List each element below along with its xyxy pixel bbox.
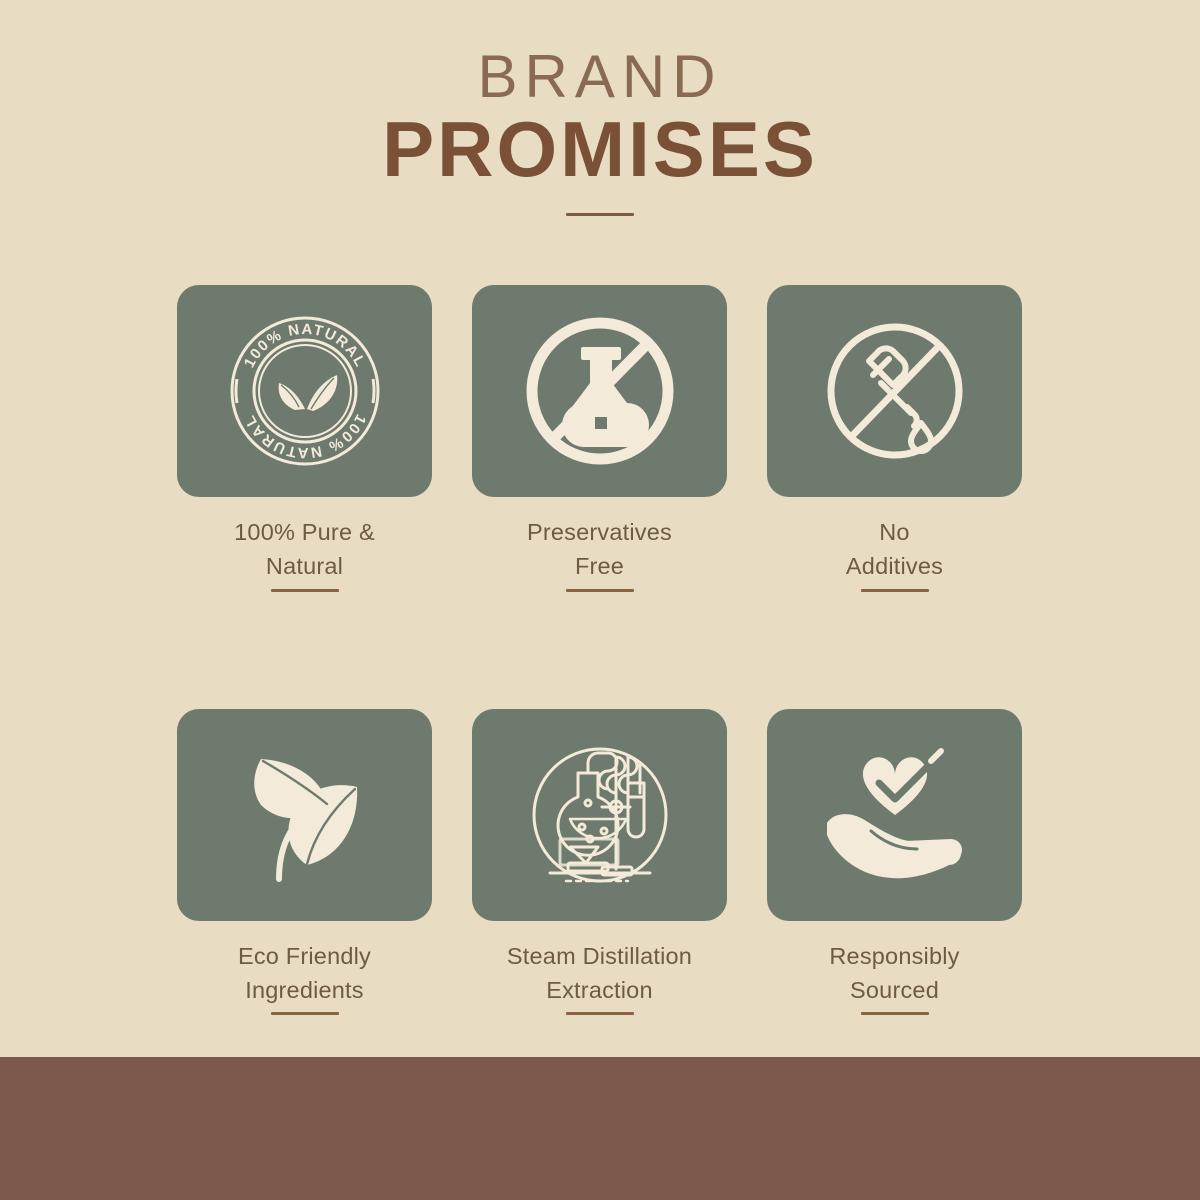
promise-icon-tile-6 [767,709,1022,921]
brand-promises-poster: BRAND PROMISES [0,0,1200,1200]
promise-icon-tile-1: 100% NATURAL 100% NATURAL [177,285,432,497]
promise-divider-5 [566,1012,634,1015]
promise-icon-tile-2 [472,285,727,497]
promise-card-4[interactable]: Eco Friendly Ingredients [177,709,432,1016]
leaves-icon [221,731,389,899]
natural-badge-icon: 100% NATURAL 100% NATURAL [225,311,385,471]
no-flask-icon [520,311,680,471]
promise-label-2: Preservatives Free [527,515,672,584]
promise-card-5[interactable]: Steam Distillation Extraction [472,709,727,1016]
promise-card-1[interactable]: 100% NATURAL 100% NATURAL [177,285,432,592]
promise-label-1: 100% Pure & Natural [234,515,375,584]
promise-icon-tile-4 [177,709,432,921]
promise-divider-3 [861,589,929,592]
promise-card-3[interactable]: No Additives [767,285,1022,592]
promise-label-5: Steam Distillation Extraction [507,939,692,1008]
promise-divider-1 [271,589,339,592]
promises-grid: 100% NATURAL 100% NATURAL [177,285,1023,1015]
promise-divider-6 [861,1012,929,1015]
footer-bar [0,1057,1200,1200]
distillation-apparatus-icon [516,731,684,899]
promise-label-6: Responsibly Sourced [829,939,959,1008]
title-divider [566,213,634,216]
page-header: BRAND PROMISES [0,0,1200,216]
promises-row-2: Eco Friendly Ingredients [177,709,1023,1016]
promise-card-6[interactable]: Responsibly Sourced [767,709,1022,1016]
promise-icon-tile-5 [472,709,727,921]
page-title-secondary: PROMISES [0,109,1200,191]
no-dropper-icon [815,311,975,471]
promise-label-4: Eco Friendly Ingredients [238,939,371,1008]
promise-label-3: No Additives [846,515,943,584]
promise-icon-tile-3 [767,285,1022,497]
hand-heart-check-icon [809,735,981,895]
promises-row-1: 100% NATURAL 100% NATURAL [177,285,1023,592]
promise-divider-4 [271,1012,339,1015]
promise-card-2[interactable]: Preservatives Free [472,285,727,592]
page-title-primary: BRAND [0,46,1200,107]
promise-divider-2 [566,589,634,592]
